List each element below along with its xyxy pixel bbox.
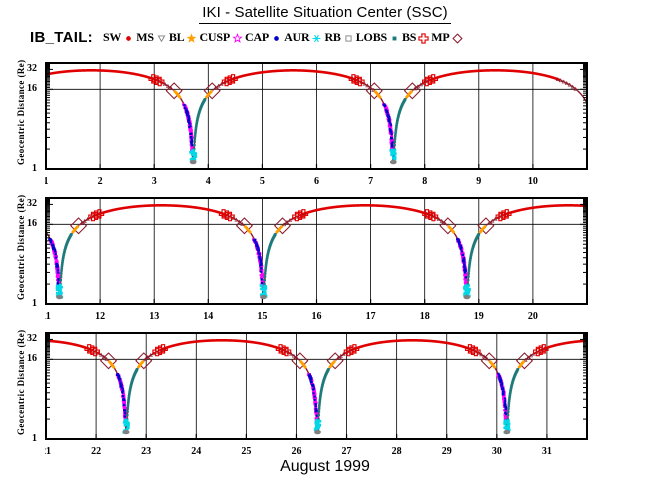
x-tick-label: 6 (314, 176, 319, 187)
panel-days-1-10-canvas: 12345678910 (45, 62, 588, 194)
legend-series-label: IB_TAIL: (30, 29, 93, 46)
triangle-down-marker (155, 31, 168, 44)
x-tick-label: 5 (260, 176, 265, 187)
legend-item-rb: RB (324, 30, 355, 45)
legend-item-label: LOBS (356, 30, 387, 45)
panel-days-1-10: 1234567891032161 (45, 62, 588, 194)
small-square-marker (388, 31, 401, 44)
open-diamond-marker (451, 31, 464, 44)
x-tick-label: 24 (191, 446, 201, 457)
filled-dot-marker (270, 31, 283, 44)
panel-days-21-31: 212223242526272829303132161 (45, 332, 588, 464)
x-tick-label: 20 (528, 311, 538, 322)
x-tick-label: 18 (420, 311, 430, 322)
legend-item-label: BS (402, 30, 416, 45)
x-tick-label: 23 (141, 446, 151, 457)
legend-item-lobs: LOBS (356, 30, 402, 45)
legend-item-bl: BL (169, 30, 200, 45)
legend: IB_TAIL: SWMSBLCUSPCAPAURRBLOBSBSMP (30, 29, 465, 46)
legend-item-ms: MS (136, 30, 169, 45)
y-axis-label-panel-3: Geocentric Distance (Re) (16, 329, 26, 435)
legend-item-mp: MP (431, 30, 464, 45)
legend-item-label: MP (431, 30, 449, 45)
page-title: IKI - Satellite Situation Center (SSC) (0, 4, 650, 21)
page-title-text: IKI - Satellite Situation Center (SSC) (199, 4, 451, 24)
x-tick-label: 29 (442, 446, 452, 457)
legend-item-label: BL (169, 30, 185, 45)
x-tick-label: 16 (312, 311, 322, 322)
x-tick-label: 27 (342, 446, 352, 457)
x-tick-label: 31 (542, 446, 552, 457)
x-tick-label: 10 (528, 176, 538, 187)
x-tick-label: 26 (291, 446, 301, 457)
legend-item-cusp: CUSP (199, 30, 245, 45)
y-axis-label-panel-1: Geocentric Distance (Re) (16, 59, 26, 165)
legend-item-label: CUSP (199, 30, 230, 45)
x-tick-label: 7 (368, 176, 373, 187)
star-open-marker (231, 31, 244, 44)
ssc-orbit-figure: IKI - Satellite Situation Center (SSC) I… (0, 0, 650, 500)
x-tick-label: 12 (95, 311, 105, 322)
x-tick-label: 2 (98, 176, 103, 187)
x-tick-label: 21 (45, 446, 51, 457)
legend-item-cap: CAP (245, 30, 284, 45)
x-tick-label: 17 (366, 311, 376, 322)
x-tick-label: 15 (257, 311, 267, 322)
panel-days-11-20: 1112131415161718192032161 (45, 197, 588, 329)
asterisk-marker (310, 31, 323, 44)
x-tick-label: 25 (241, 446, 251, 457)
x-axis-title: August 1999 (0, 458, 650, 476)
legend-item-sw: SW (103, 30, 136, 45)
x-tick-label: 30 (492, 446, 502, 457)
x-tick-label: 28 (392, 446, 402, 457)
x-tick-label: 11 (45, 311, 51, 322)
x-tick-label: 22 (91, 446, 101, 457)
x-tick-label: 4 (206, 176, 211, 187)
x-tick-label: 14 (203, 311, 213, 322)
legend-item-label: CAP (245, 30, 269, 45)
x-tick-label: 19 (474, 311, 484, 322)
x-tick-label: 8 (422, 176, 427, 187)
legend-item-label: MS (136, 30, 154, 45)
x-tick-label: 13 (149, 311, 159, 322)
sw-dot-marker (122, 31, 135, 44)
x-tick-label: 3 (152, 176, 157, 187)
legend-item-label: RB (324, 30, 340, 45)
legend-item-bs: BS (402, 30, 431, 45)
panel-days-21-31-canvas: 2122232425262728293031 (45, 332, 588, 464)
legend-item-label: SW (103, 30, 121, 45)
legend-item-label: AUR (284, 30, 309, 45)
y-axis-label-panel-2: Geocentric Distance (Re) (16, 194, 26, 300)
x-tick-label: 9 (476, 176, 481, 187)
cross-marker (417, 31, 430, 44)
panel-days-11-20-canvas: 11121314151617181920 (45, 197, 588, 329)
legend-item-aur: AUR (284, 30, 324, 45)
star-marker (185, 31, 198, 44)
open-square-marker (342, 31, 355, 44)
x-tick-label: 1 (45, 176, 49, 187)
